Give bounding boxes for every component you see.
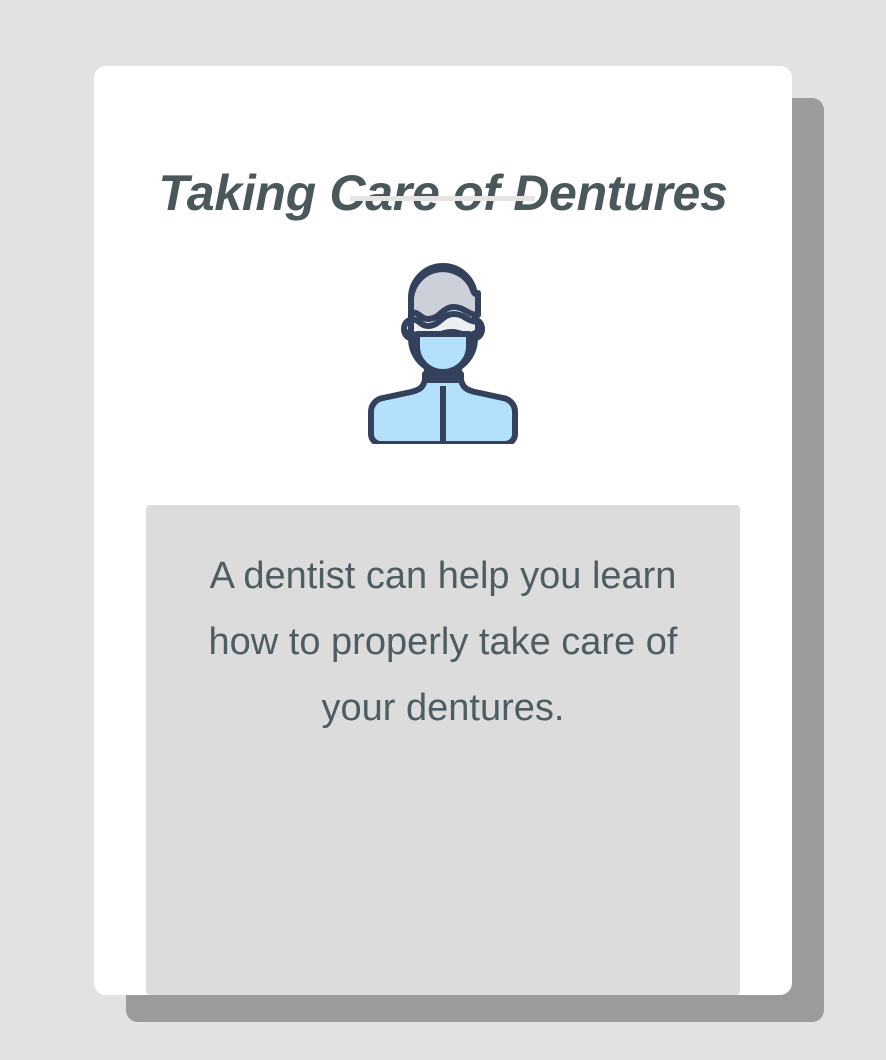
info-card: Taking Care of Dentures: [94, 66, 792, 995]
body-text: A dentist can help you learn how to prop…: [188, 543, 698, 741]
content-box: A dentist can help you learn how to prop…: [146, 505, 740, 995]
page-title: Taking Care of Dentures: [94, 164, 792, 222]
slide-stage: Taking Care of Dentures: [0, 0, 886, 1060]
title-divider: [350, 196, 535, 201]
dentist-masked-person-icon: [365, 262, 521, 444]
